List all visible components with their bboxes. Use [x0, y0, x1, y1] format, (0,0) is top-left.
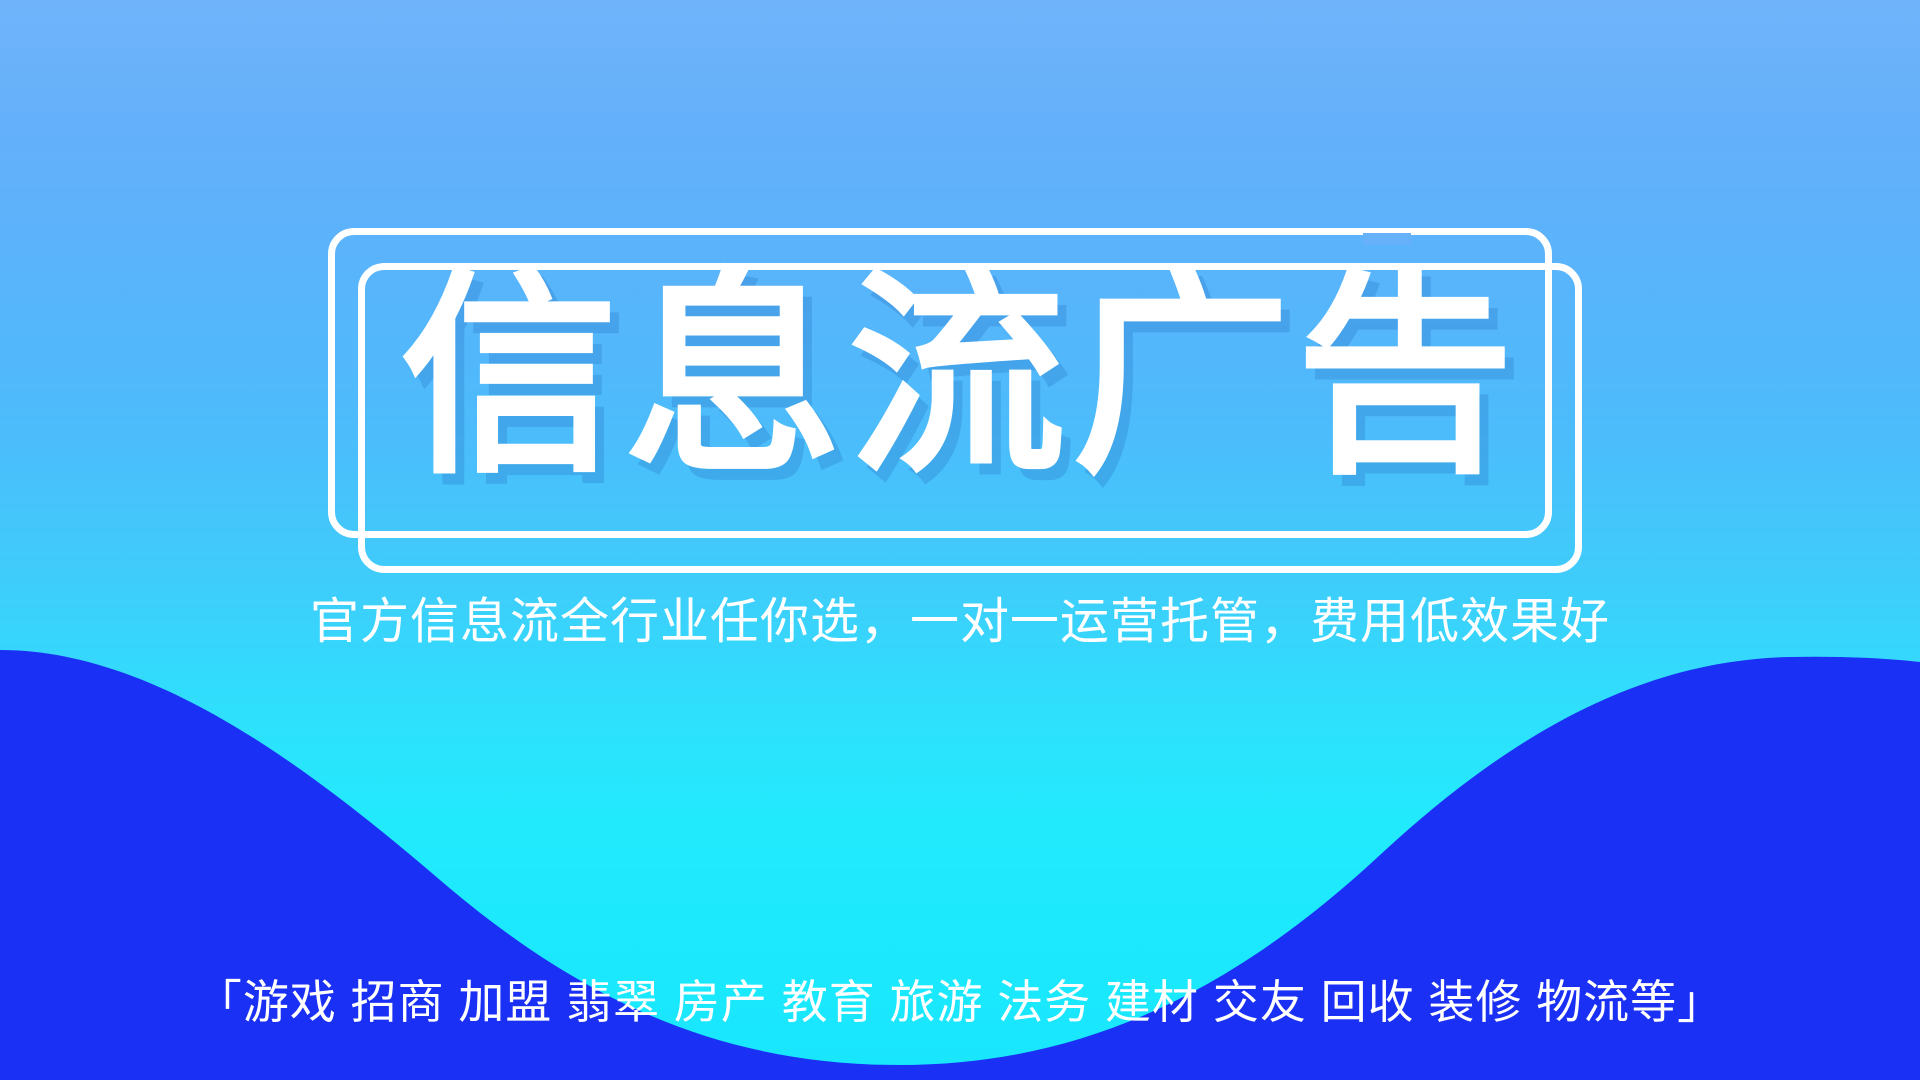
industry-tags-text: 「游戏 招商 加盟 翡翠 房产 教育 旅游 法务 建材 交友 回收 装修 物流等…	[0, 972, 1920, 1032]
frame-top-gap	[1363, 233, 1411, 245]
page-title: 信息流广告	[0, 263, 1920, 493]
promo-banner: 信息流广告 官方信息流全行业任你选，一对一运营托管，费用低效果好 「游戏 招商 …	[0, 0, 1920, 1080]
subtitle-text: 官方信息流全行业任你选，一对一运营托管，费用低效果好	[0, 592, 1920, 652]
